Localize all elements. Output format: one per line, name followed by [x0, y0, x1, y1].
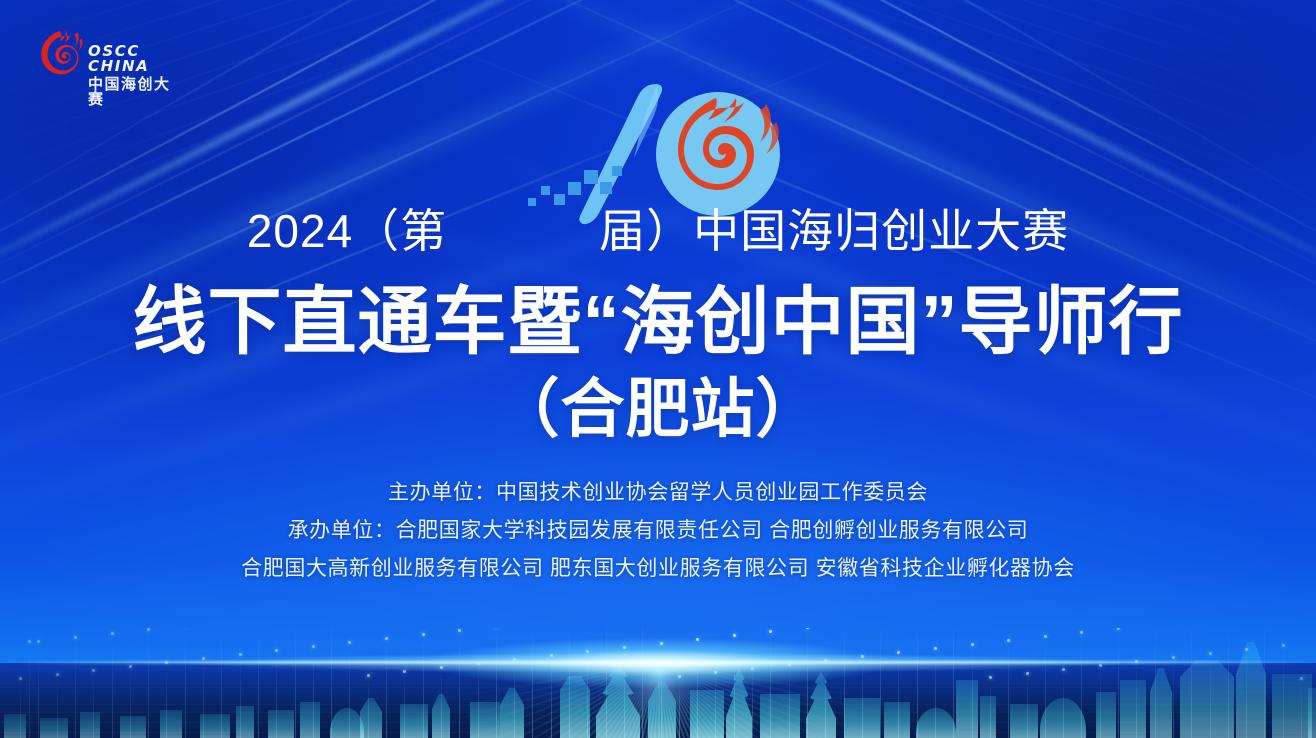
skyline-light-dot [111, 632, 114, 635]
organizer-line-coorganizer: 承办单位：合肥国家大学科技园发展有限责任公司 合肥创孵创业服务有限公司 [0, 512, 1316, 550]
horizon-glow-spread [0, 640, 1316, 686]
brand-logo-en: OSCC CHINA [88, 44, 180, 74]
event-year-line: 2024（第届）中国海归创业大赛 [0, 195, 1316, 261]
skyline-building [236, 706, 254, 738]
skyline-antenna [1301, 680, 1302, 738]
organizer-line-coorganizer-2: 合肥国大高新创业服务有限公司 肥东国大创业服务有限公司 安徽省科技企业孵化器协会 [0, 550, 1316, 588]
light-ray [664, 0, 1316, 42]
poster-subtitle-city: （合肥站） [0, 358, 1316, 450]
organizer-line-host: 主办单位：中国技术创业协会留学人员创业园工作委员会 [0, 474, 1316, 512]
skyline-light-dot [147, 628, 150, 631]
skyline-antenna [990, 679, 991, 738]
skyline-building [1308, 688, 1316, 738]
skyline-building [1096, 692, 1116, 738]
brand-logo-cn: 中国海创大赛 [88, 77, 180, 107]
event-poster: OSCC CHINA 中国海创大赛 [0, 0, 1316, 738]
skyline-building [300, 702, 320, 738]
skyline-light-dot [1044, 635, 1047, 638]
skyline-light-dot [1117, 628, 1120, 630]
skyline-building [268, 710, 294, 738]
skyline-building [4, 714, 26, 738]
skyline-building [1010, 704, 1038, 738]
poster-main-title: 线下直通车暨“海创中国”导师行 [0, 262, 1316, 369]
skyline-building [40, 718, 68, 738]
skyline-building [980, 696, 996, 738]
skyline-building [160, 710, 182, 738]
skyline-building [1120, 680, 1146, 738]
skyline-building [120, 716, 146, 738]
brand-logo-text: OSCC CHINA 中国海创大赛 [88, 44, 180, 107]
skyline-light-dot [1080, 631, 1083, 634]
brand-logo[interactable]: OSCC CHINA 中国海创大赛 [30, 26, 180, 88]
skyline-building [200, 714, 230, 738]
skyline-antenna [20, 680, 21, 738]
event-year-prefix: 2024（第 [247, 205, 447, 257]
event-year-suffix: 届）中国海归创业大赛 [599, 205, 1069, 257]
organizer-block: 主办单位：中国技术创业协会留学人员创业园工作委员会 承办单位：合肥国家大学科技园… [0, 474, 1316, 588]
flame-swirl-logo-icon [30, 26, 90, 84]
skyline-light-dot [74, 636, 77, 639]
skyline-building [80, 712, 100, 738]
